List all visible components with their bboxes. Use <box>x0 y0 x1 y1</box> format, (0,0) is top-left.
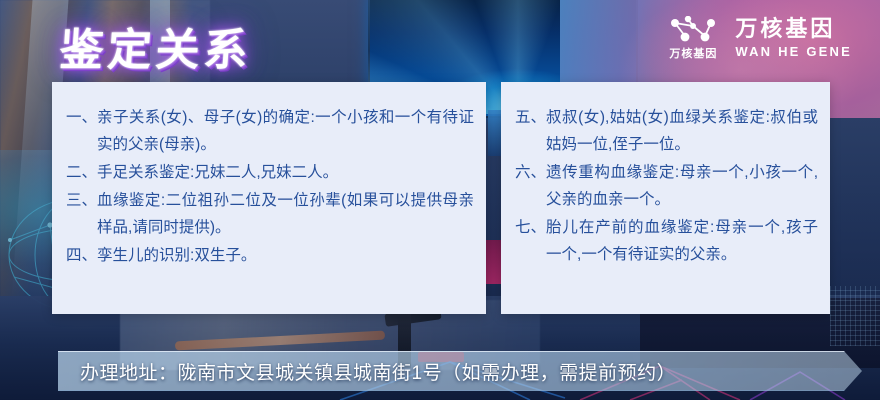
list-item: 四、 孪生儿的识别:双生子。 <box>66 242 474 269</box>
list-item-text: 胎儿在产前的血缘鉴定:母亲一个,孩子一个,一个有待证实的父亲。 <box>546 214 818 268</box>
brand-mark-label: 万核基因 <box>669 49 717 60</box>
list-item-number: 四、 <box>66 242 97 269</box>
relations-panel-right: 五、 叔叔(女),姑姑(女)血绿关系鉴定:叔伯或姑妈一位,侄子一位。 六、 遗传… <box>501 82 830 314</box>
list-item-text: 遗传重构血缘鉴定:母亲一个,小孩一个,父亲的血亲一个。 <box>546 159 818 213</box>
brand-name-cn: 万核基因 <box>735 18 852 40</box>
relations-panel-left: 一、 亲子关系(女)、母子(女)的确定:一个小孩和一个有待证实的父亲(母亲)。 … <box>52 82 486 314</box>
promo-banner: 鉴定关系 万核基因 <box>0 0 880 400</box>
brand-name-en: WAN HE GENE <box>735 45 852 58</box>
list-item-number: 二、 <box>66 159 97 186</box>
list-item: 五、 叔叔(女),姑姑(女)血绿关系鉴定:叔伯或姑妈一位,侄子一位。 <box>515 104 818 158</box>
list-item-number: 一、 <box>66 104 97 158</box>
list-item-text: 亲子关系(女)、母子(女)的确定:一个小孩和一个有待证实的父亲(母亲)。 <box>97 104 474 158</box>
list-item-text: 手足关系鉴定:兄妹二人,兄妹二人。 <box>97 159 474 186</box>
list-item-number: 七、 <box>515 214 546 268</box>
list-item: 三、 血缘鉴定:二位祖孙二位及一位孙辈(如果可以提供母亲样品,请同时提供)。 <box>66 187 474 241</box>
list-item-number: 三、 <box>66 187 97 241</box>
page-title: 鉴定关系 <box>58 14 254 78</box>
list-item-text: 叔叔(女),姑姑(女)血绿关系鉴定:叔伯或姑妈一位,侄子一位。 <box>546 104 818 158</box>
molecule-node-icon <box>667 16 719 46</box>
list-item-number: 六、 <box>515 159 546 213</box>
list-item: 二、 手足关系鉴定:兄妹二人,兄妹二人。 <box>66 159 474 186</box>
list-item-text: 血缘鉴定:二位祖孙二位及一位孙辈(如果可以提供母亲样品,请同时提供)。 <box>97 187 474 241</box>
address-bar: 办理地址：陇南市文县城关镇县城南街1号（如需办理，需提前预约） <box>58 351 862 391</box>
list-item: 一、 亲子关系(女)、母子(女)的确定:一个小孩和一个有待证实的父亲(母亲)。 <box>66 104 474 158</box>
list-item-text: 孪生儿的识别:双生子。 <box>97 242 474 269</box>
list-item: 六、 遗传重构血缘鉴定:母亲一个,小孩一个,父亲的血亲一个。 <box>515 159 818 213</box>
list-item-number: 五、 <box>515 104 546 158</box>
address-text: 办理地址：陇南市文县城关镇县城南街1号（如需办理，需提前预约） <box>80 358 676 385</box>
brand-mark: 万核基因 <box>667 16 719 60</box>
list-item: 七、 胎儿在产前的血缘鉴定:母亲一个,孩子一个,一个有待证实的父亲。 <box>515 214 818 268</box>
brand-logo: 万核基因 万核基因 WAN HE GENE <box>667 16 852 60</box>
brand-name-block: 万核基因 WAN HE GENE <box>735 18 852 58</box>
